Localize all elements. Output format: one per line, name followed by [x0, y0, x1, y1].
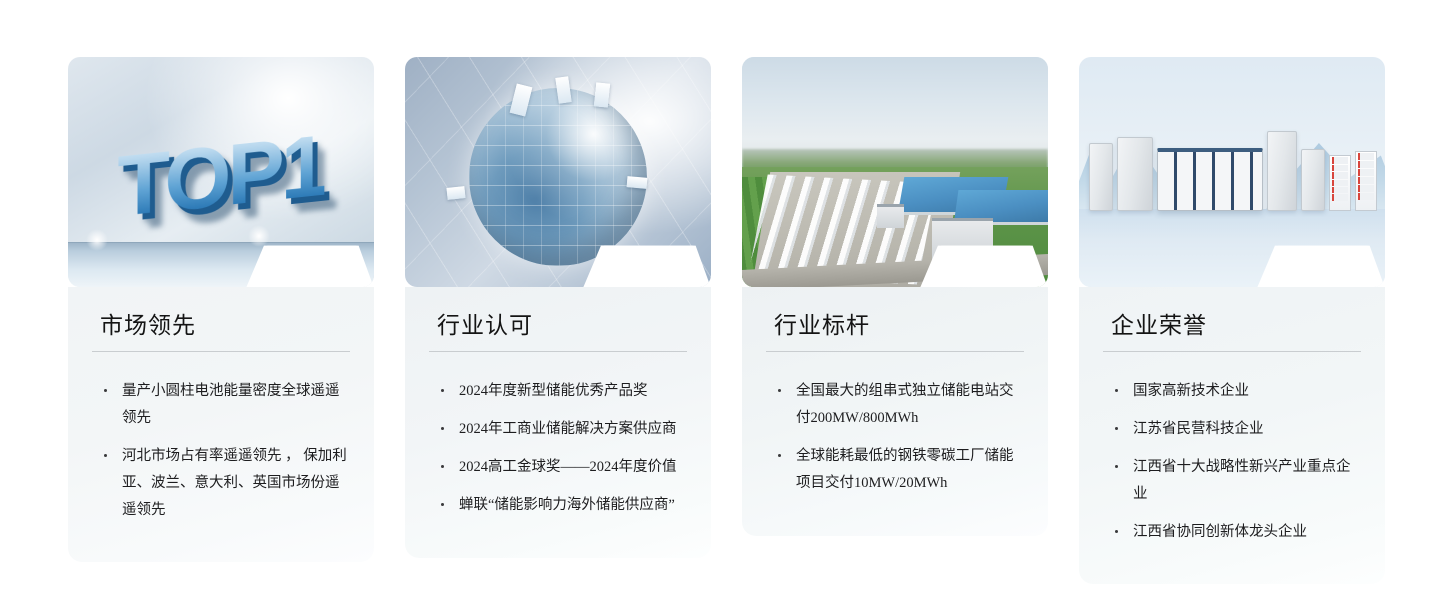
glint-icon	[86, 229, 108, 251]
product-cabinet	[1089, 143, 1113, 211]
battery-module	[1332, 187, 1348, 193]
bullet-list: 国家高新技术企业 江苏省民营科技企业 江西省十大战略性新兴产业重点企业 江西省协…	[1101, 378, 1363, 545]
title-divider	[1103, 351, 1361, 352]
list-item: 江西省协同创新体龙头企业	[1109, 519, 1361, 546]
battery-module	[1358, 169, 1374, 176]
globe-shard	[446, 186, 465, 200]
card-body-industry-recognition: 行业认可 2024年度新型储能优秀产品奖 2024年工商业储能解决方案供应商 2…	[405, 287, 711, 558]
list-item: 江苏省民营科技企业	[1109, 416, 1361, 443]
battery-rack	[1355, 151, 1377, 211]
product-container	[1157, 148, 1263, 211]
card-title: 行业标杆	[774, 313, 1026, 338]
media-notch	[1257, 242, 1385, 287]
battery-module	[1358, 161, 1374, 168]
card-market-leadership[interactable]: TOP1 市场领先 量产小圆柱电池能量密度全球遥遥领先 河北市场占有率遥遥领先 …	[68, 57, 374, 562]
list-item: 河北市场占有率遥遥领先 ， 保加利亚、波兰、意大利、英国市场份遥遥领先	[98, 443, 350, 523]
card-title: 企业荣誉	[1111, 313, 1363, 338]
list-item: 全球能耗最低的钢铁零碳工厂储能项目交付10MW/20MWh	[772, 443, 1024, 497]
product-cabinet	[1267, 131, 1297, 211]
product-cabinet	[1301, 149, 1325, 211]
globe-shard	[594, 82, 610, 107]
list-item: 2024年工商业储能解决方案供应商	[435, 416, 687, 443]
globe-sphere-icon	[469, 88, 647, 266]
battery-module	[1332, 165, 1348, 171]
media-notch	[246, 242, 374, 287]
battery-module	[1358, 153, 1374, 160]
list-item: 2024高工金球奖——2024年度价值	[435, 454, 687, 481]
glint-icon	[248, 225, 270, 247]
list-item: 江西省十大战略性新兴产业重点企业	[1109, 454, 1361, 508]
honors-card-board: TOP1 市场领先 量产小圆柱电池能量密度全球遥遥领先 河北市场占有率遥遥领先 …	[0, 0, 1450, 590]
site-sky	[742, 57, 1048, 163]
card-body-market-leadership: 市场领先 量产小圆柱电池能量密度全球遥遥领先 河北市场占有率遥遥领先 ， 保加利…	[68, 287, 374, 562]
list-item: 全国最大的组串式独立储能电站交付200MW/800MWh	[772, 378, 1024, 432]
bullet-list: 量产小圆柱电池能量密度全球遥遥领先 河北市场占有率遥遥领先 ， 保加利亚、波兰、…	[90, 378, 352, 523]
battery-module	[1358, 185, 1374, 192]
battery-module	[1332, 194, 1348, 200]
card-industry-recognition[interactable]: 行业认可 2024年度新型储能优秀产品奖 2024年工商业储能解决方案供应商 2…	[405, 57, 711, 558]
card-media-industry-benchmark	[742, 57, 1048, 287]
media-notch	[920, 242, 1048, 287]
card-media-market-leadership: TOP1	[68, 57, 374, 287]
battery-rack	[1329, 155, 1351, 211]
top1-wordmark: TOP1	[117, 116, 324, 237]
card-media-corporate-honors	[1079, 57, 1385, 287]
media-notch	[583, 242, 711, 287]
bullet-list: 全国最大的组串式独立储能电站交付200MW/800MWh 全球能耗最低的钢铁零碳…	[764, 378, 1026, 496]
battery-module	[1332, 180, 1348, 186]
battery-module	[1332, 157, 1348, 163]
card-industry-benchmark[interactable]: 行业标杆 全国最大的组串式独立储能电站交付200MW/800MWh 全球能耗最低…	[742, 57, 1048, 536]
title-divider	[766, 351, 1024, 352]
title-divider	[429, 351, 687, 352]
globe-shard	[627, 176, 648, 189]
card-corporate-honors[interactable]: 企业荣誉 国家高新技术企业 江苏省民营科技企业 江西省十大战略性新兴产业重点企业…	[1079, 57, 1385, 584]
title-divider	[92, 351, 350, 352]
list-item: 国家高新技术企业	[1109, 378, 1361, 405]
product-cabinet	[1117, 137, 1153, 211]
battery-module	[1332, 172, 1348, 178]
battery-module	[1358, 193, 1374, 200]
bullet-list: 2024年度新型储能优秀产品奖 2024年工商业储能解决方案供应商 2024高工…	[427, 378, 689, 518]
card-title: 市场领先	[100, 313, 352, 338]
list-item: 量产小圆柱电池能量密度全球遥遥领先	[98, 378, 350, 432]
list-item: 蝉联“储能影响力海外储能供应商”	[435, 492, 687, 519]
card-body-industry-benchmark: 行业标杆 全国最大的组串式独立储能电站交付200MW/800MWh 全球能耗最低…	[742, 287, 1048, 536]
list-item: 2024年度新型储能优秀产品奖	[435, 378, 687, 405]
card-media-industry-recognition	[405, 57, 711, 287]
card-body-corporate-honors: 企业荣誉 国家高新技术企业 江苏省民营科技企业 江西省十大战略性新兴产业重点企业…	[1079, 287, 1385, 584]
site-guard-building	[877, 204, 905, 228]
battery-module	[1358, 177, 1374, 184]
card-title: 行业认可	[437, 313, 689, 338]
